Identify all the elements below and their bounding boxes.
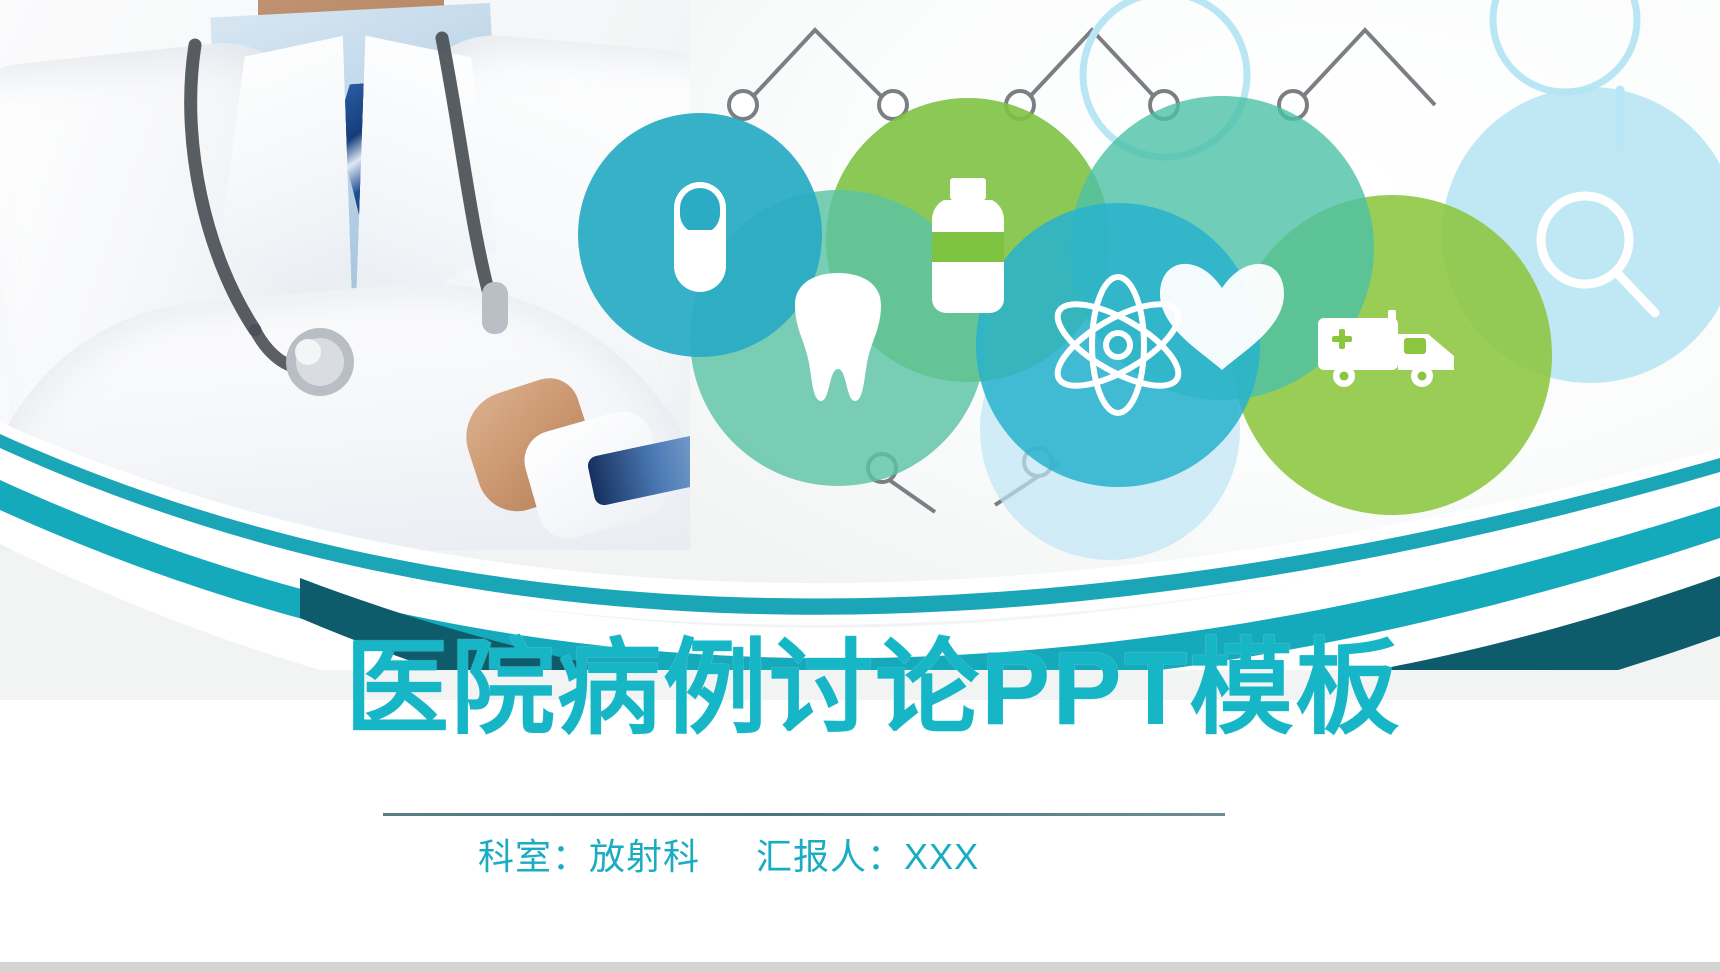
department-value: 放射科 [589,836,700,877]
bottom-edge-bar [0,962,1720,972]
subtitle-line: 科室：放射科汇报人：XXX [478,828,979,880]
title-group: 医院病例讨论PPT模板 科室：放射科汇报人：XXX [0,0,1720,972]
department-label: 科室： [478,836,589,877]
page-title: 医院病例讨论PPT模板 [345,637,1401,741]
presenter-label: 汇报人： [756,836,904,877]
presenter-value: XXX [904,836,979,877]
presentation-title-slide: 医院病例讨论PPT模板 科室：放射科汇报人：XXX [0,0,1720,972]
title-divider [383,813,1225,816]
